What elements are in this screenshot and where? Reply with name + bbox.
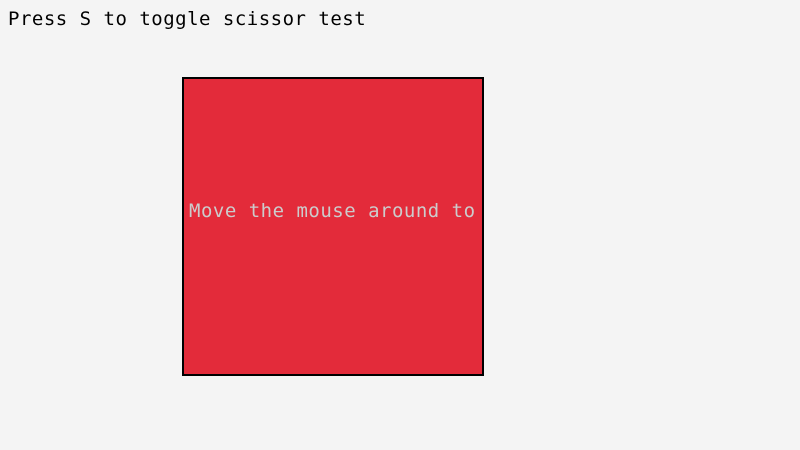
scissor-clipped-message: Move the mouse around to reveal the scis… (189, 200, 484, 222)
scissor-region[interactable]: Move the mouse around to reveal the scis… (182, 77, 484, 376)
instruction-text: Press S to toggle scissor test (8, 8, 366, 30)
demo-canvas: Press S to toggle scissor test Move the … (0, 0, 800, 450)
